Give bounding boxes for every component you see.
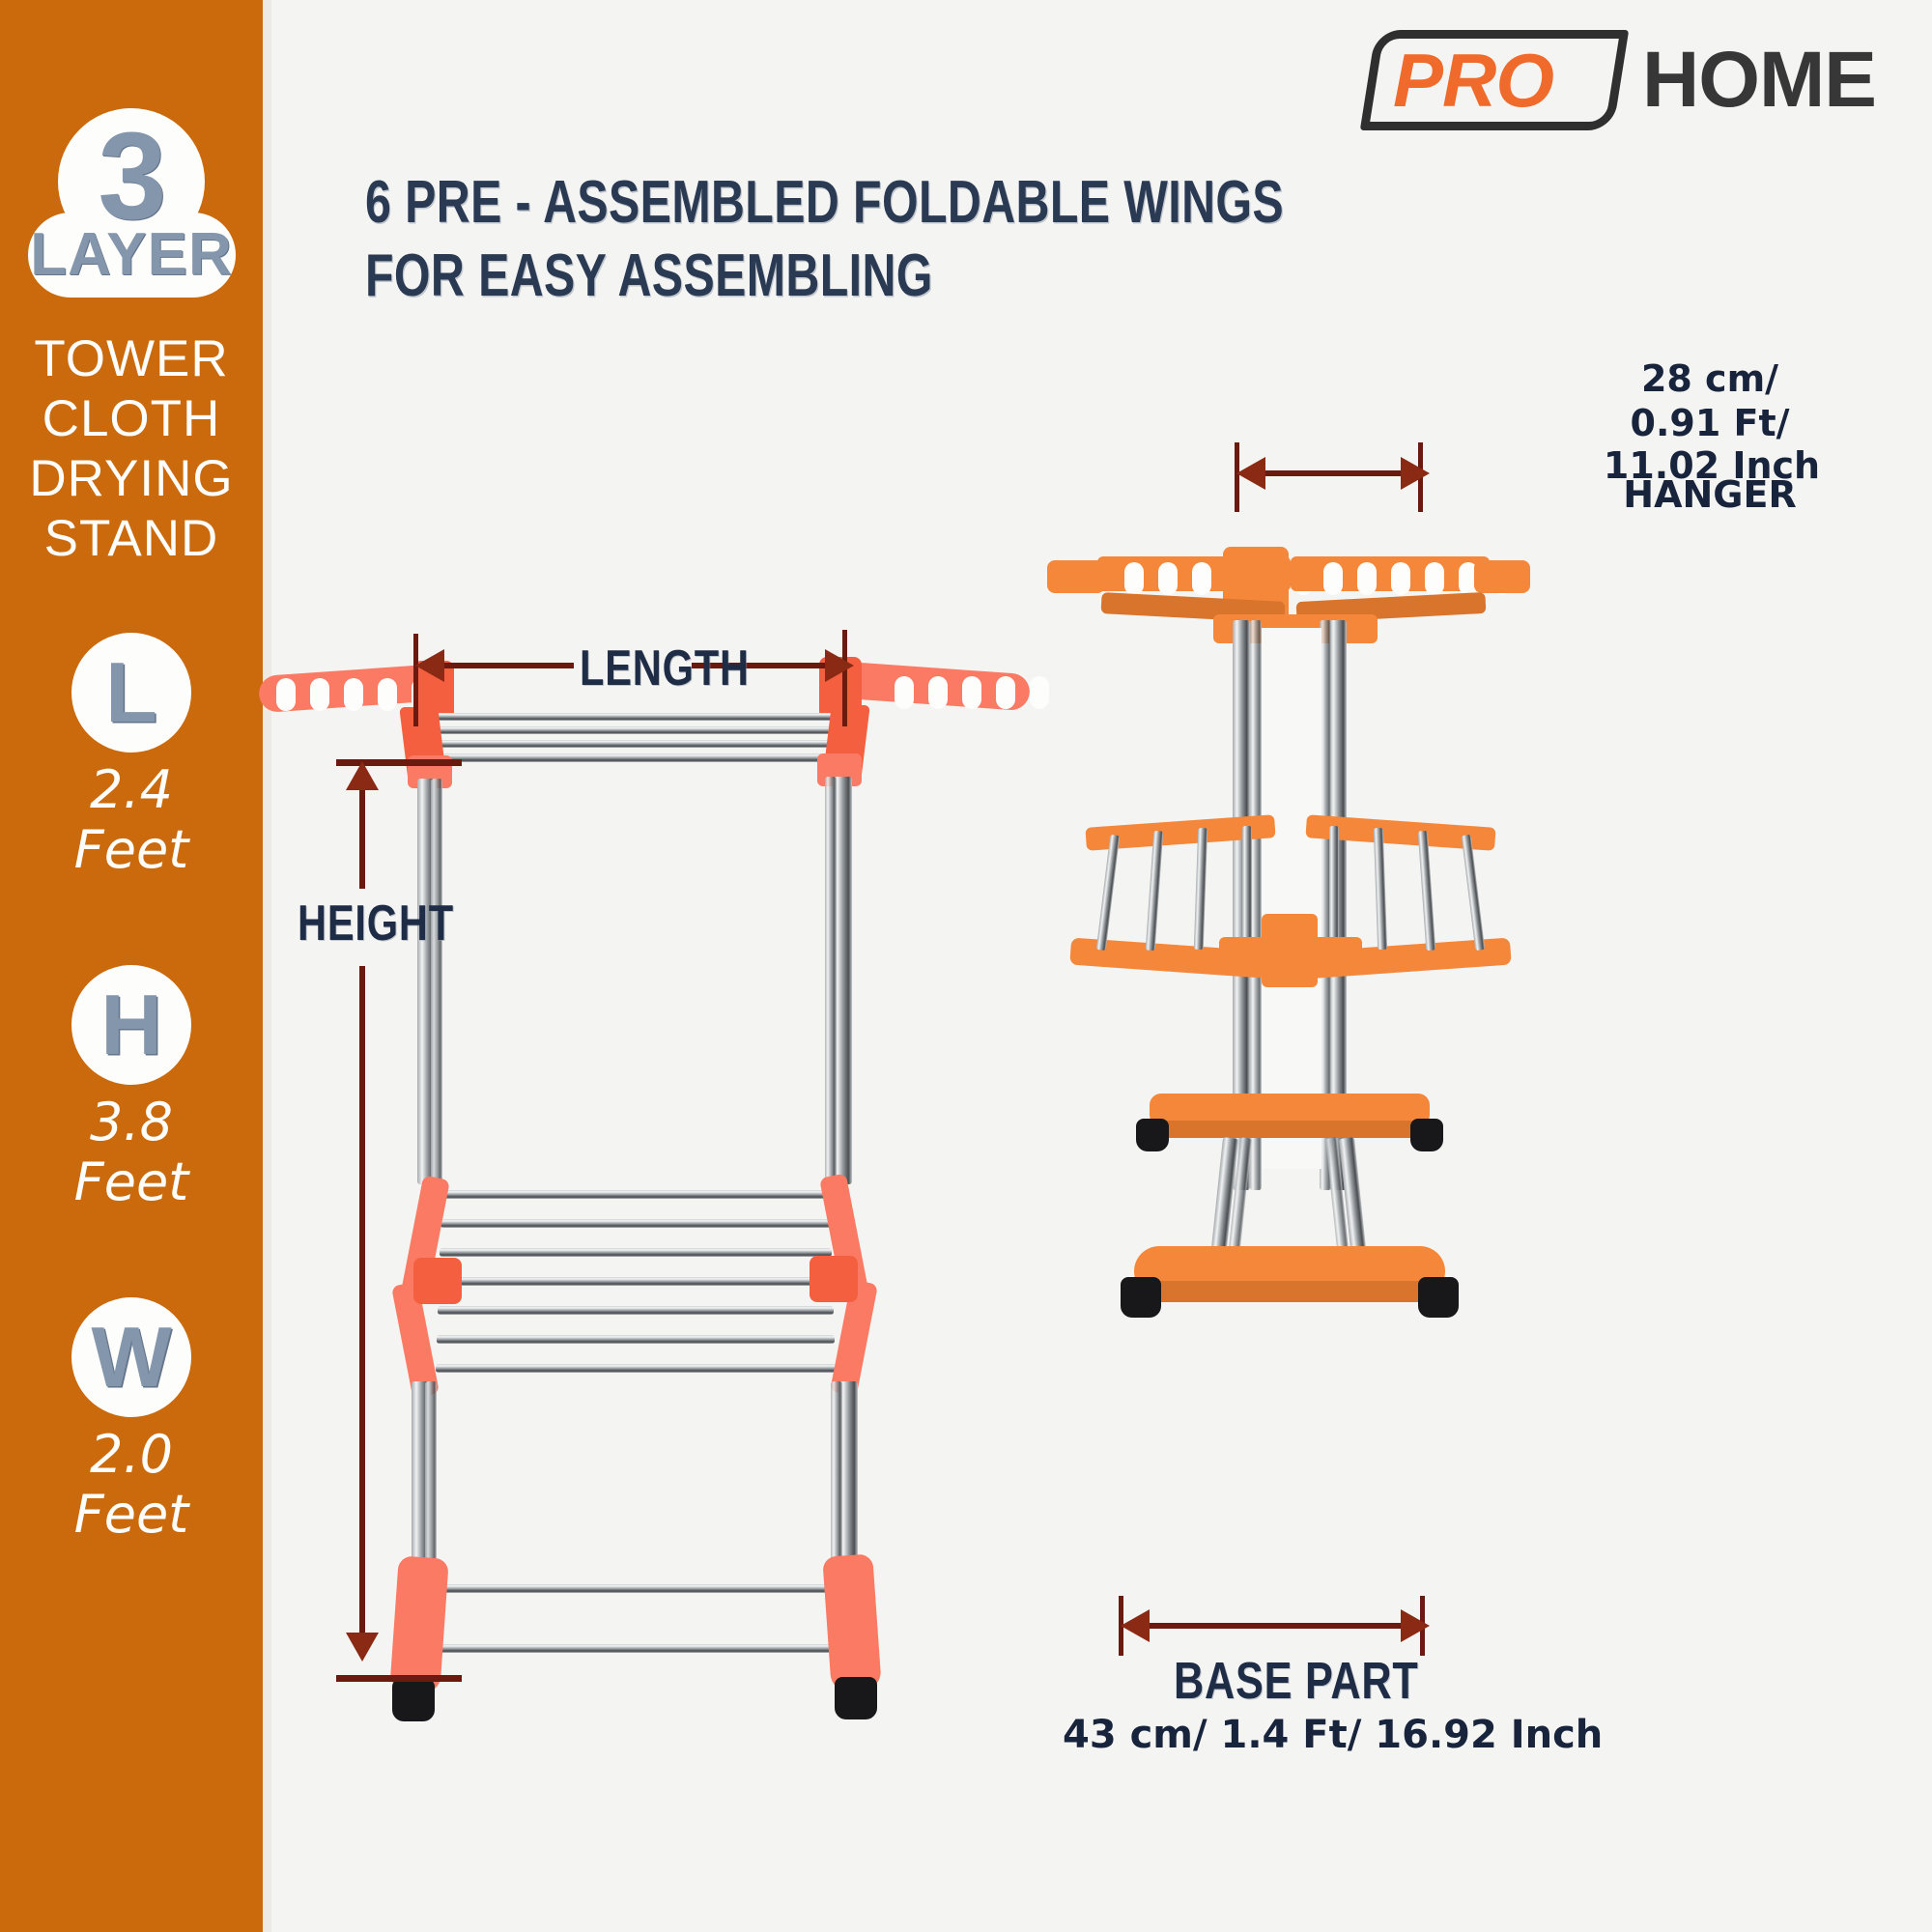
dimension-badge-height: H 3.8 Feet — [0, 965, 263, 1212]
hanger-line — [1250, 470, 1406, 476]
middle-shelf-rod — [440, 1219, 831, 1228]
length-arrow-right-icon — [825, 649, 854, 682]
height-tick-bottom — [336, 1675, 462, 1682]
product-image-front-view — [1043, 512, 1584, 1748]
front-mid-rod — [1374, 828, 1387, 950]
leg-right-upper-back — [825, 777, 837, 1184]
front-mid-rod — [1329, 826, 1339, 950]
layer-word: LAYER — [28, 216, 236, 294]
product-title: TOWER CLOTH DRYING STAND — [10, 329, 253, 569]
brand-logo: PRO HOME — [1368, 27, 1876, 133]
base-arrow-left-icon — [1121, 1609, 1150, 1642]
layer-badge: 3 LAYER — [28, 108, 236, 297]
dimension-unit-w: Feet — [74, 1485, 189, 1545]
front-hanger-end-right — [1474, 560, 1530, 593]
product-title-line-2: CLOTH — [10, 389, 253, 449]
base-foot-left — [389, 1555, 449, 1693]
dimension-badge-length: L 2.4 Feet — [0, 633, 263, 880]
sidebar: 3 LAYER TOWER CLOTH DRYING STAND L 2.4 F… — [0, 0, 263, 1932]
hanger-hole — [996, 676, 1015, 709]
base-part-label: BASE PART — [1174, 1654, 1419, 1708]
hanger-hole — [378, 678, 397, 711]
front-mid-rod — [1146, 831, 1164, 951]
hanger-hole — [310, 678, 329, 711]
hanger-measure-ft: 0.91 Ft/ — [1584, 400, 1835, 446]
dimension-circle-l: L — [71, 633, 191, 753]
dimension-unit-h: Feet — [74, 1152, 189, 1212]
top-shelf-rod — [421, 740, 844, 748]
hanger-hole — [1158, 562, 1178, 595]
dimension-value-h: 3.8 Feet — [74, 1093, 189, 1212]
dimension-circle-w: W — [71, 1297, 191, 1417]
hanger-arrow-right-icon — [1401, 457, 1430, 490]
headline-line-1: 6 PRE - ASSEMBLED FOLDABLE WINGS — [365, 166, 1119, 240]
dimension-letter-h: H — [100, 982, 162, 1067]
base-line — [1136, 1623, 1406, 1629]
length-arrow-left-icon — [415, 649, 444, 682]
base-arrow-right-icon — [1401, 1609, 1430, 1642]
middle-shelf-rod — [439, 1277, 833, 1286]
height-label: HEIGHT — [298, 896, 454, 951]
middle-shelf-rod — [436, 1364, 836, 1373]
dimension-number-h: 3.8 — [74, 1093, 189, 1152]
shelf-wheel-left — [1136, 1119, 1169, 1151]
dimension-value-l: 2.4 Feet — [74, 760, 189, 880]
front-lower-shelf-edge — [1159, 1121, 1420, 1138]
front-mid-hub-center — [1262, 914, 1318, 987]
dimension-circle-h: H — [71, 965, 191, 1085]
headline-line-2: FOR EASY ASSEMBLING — [365, 240, 1119, 313]
front-hanger-end-left — [1047, 560, 1105, 593]
dimension-badge-width: W 2.0 Feet — [0, 1297, 263, 1545]
hanger-hole — [895, 676, 914, 709]
top-shelf-rod — [423, 726, 842, 734]
bottom-rail-lower — [429, 1644, 838, 1653]
front-post-gap — [1262, 628, 1321, 1169]
middle-shelf-rod — [437, 1335, 835, 1344]
hanger-hole — [344, 678, 363, 711]
middle-shelf-rod — [438, 1306, 834, 1315]
hanger-hole — [1124, 562, 1144, 595]
middle-shelf-rod — [440, 1248, 832, 1257]
base-foot-right — [822, 1553, 882, 1691]
hanger-hole — [962, 676, 981, 709]
middle-hub-left — [413, 1258, 462, 1304]
top-shelf-rod — [425, 713, 840, 721]
front-mid-rod — [1194, 828, 1207, 950]
dimension-unit-l: Feet — [74, 820, 189, 880]
dimension-number-w: 2.0 — [74, 1425, 189, 1485]
product-title-line-3: DRYING — [10, 449, 253, 509]
height-arrow-down-icon — [346, 1633, 379, 1662]
dimension-value-w: 2.0 Feet — [74, 1425, 189, 1545]
bottom-rail-upper — [431, 1584, 837, 1593]
hanger-hole — [1425, 562, 1444, 595]
hanger-label: HANGER — [1584, 471, 1835, 518]
height-arrow-up-icon — [346, 761, 379, 790]
logo-pro-text: PRO — [1393, 42, 1553, 119]
caster-wheel-right — [835, 1677, 877, 1719]
headline: 6 PRE - ASSEMBLED FOLDABLE WINGS FOR EAS… — [365, 166, 1119, 313]
hanger-hole — [276, 678, 296, 711]
middle-shelf-rod — [442, 1190, 829, 1199]
front-mid-rod — [1242, 826, 1252, 950]
front-base-bar-shadow — [1140, 1281, 1439, 1302]
top-shelf-rod — [419, 753, 846, 762]
dimension-letter-w: W — [91, 1315, 171, 1400]
product-title-line-4: STAND — [10, 509, 253, 569]
middle-hub-right — [810, 1256, 858, 1302]
leg-left-upper-back — [431, 779, 442, 1184]
height-line-lower — [359, 966, 365, 1633]
logo-pro-badge: PRO — [1368, 30, 1621, 130]
hanger-arrow-left-icon — [1236, 457, 1265, 490]
hanger-hole — [1391, 562, 1410, 595]
shelf-wheel-right — [1410, 1119, 1443, 1151]
infographic-canvas: 3 LAYER TOWER CLOTH DRYING STAND L 2.4 F… — [0, 0, 1932, 1932]
base-part-measure: 43 cm/ 1.4 Ft/ 16.92 Inch — [1063, 1712, 1488, 1758]
front-mid-rod — [1096, 835, 1121, 951]
hanger-measure-cm: 28 cm/ — [1584, 355, 1835, 402]
hanger-hole — [1323, 562, 1343, 595]
hanger-hole — [1192, 562, 1211, 595]
product-title-line-1: TOWER — [10, 329, 253, 389]
length-line-left — [429, 663, 574, 668]
front-mid-rod — [1462, 835, 1486, 951]
front-mid-rod — [1418, 831, 1436, 951]
dimension-letter-l: L — [105, 650, 157, 735]
dimension-number-l: 2.4 — [74, 760, 189, 820]
length-label: LENGTH — [580, 641, 750, 696]
logo-home-text: HOME — [1642, 41, 1876, 120]
product-image-side-view — [241, 618, 918, 1739]
base-caster-left — [1121, 1277, 1161, 1318]
hanger-hole — [1357, 562, 1377, 595]
base-caster-right — [1418, 1277, 1459, 1318]
hanger-hole — [928, 676, 948, 709]
caster-wheel-left — [392, 1679, 435, 1721]
hanger-holes-right — [895, 676, 1064, 709]
